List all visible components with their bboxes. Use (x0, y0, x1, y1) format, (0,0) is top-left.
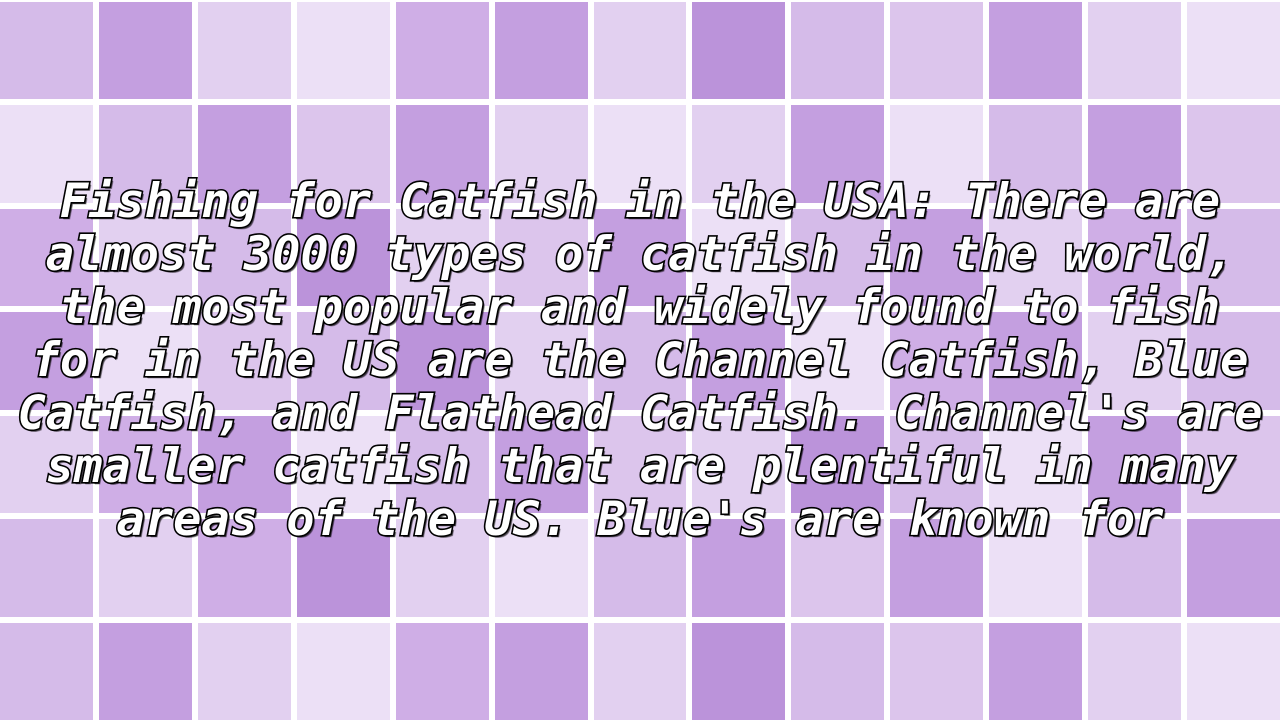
poster-canvas: Fishing for Catfish in the USA: There ar… (0, 0, 1280, 720)
tile-r5-c7 (594, 416, 687, 513)
tile-r3-c8 (692, 209, 785, 306)
tile-r5-c1 (0, 416, 93, 513)
tile-r1-c4 (297, 2, 390, 99)
tile-r1-c2 (99, 2, 192, 99)
tile-r3-c4 (297, 209, 390, 306)
tile-r3-c13 (1187, 209, 1280, 306)
tile-r5-c2 (99, 416, 192, 513)
tile-r4-c3 (198, 312, 291, 409)
tile-r1-c11 (989, 2, 1082, 99)
tile-r6-c6 (495, 519, 588, 616)
tile-r4-c6 (495, 312, 588, 409)
tile-r7-c2 (99, 623, 192, 720)
tile-r2-c12 (1088, 105, 1181, 202)
tile-r6-c5 (396, 519, 489, 616)
tile-r7-c5 (396, 623, 489, 720)
tile-r5-c10 (890, 416, 983, 513)
tile-r5-c11 (989, 416, 1082, 513)
tile-r4-c11 (989, 312, 1082, 409)
tile-r5-c9 (791, 416, 884, 513)
tile-r3-c5 (396, 209, 489, 306)
tile-r6-c3 (198, 519, 291, 616)
tile-r4-c10 (890, 312, 983, 409)
tile-r6-c11 (989, 519, 1082, 616)
tile-r6-c9 (791, 519, 884, 616)
tile-r1-c5 (396, 2, 489, 99)
tile-r2-c5 (396, 105, 489, 202)
tile-r5-c12 (1088, 416, 1181, 513)
tile-r3-c10 (890, 209, 983, 306)
tile-r7-c6 (495, 623, 588, 720)
tile-r1-c12 (1088, 2, 1181, 99)
tile-r4-c12 (1088, 312, 1181, 409)
tile-r4-c9 (791, 312, 884, 409)
tile-r3-c12 (1088, 209, 1181, 306)
tile-r6-c1 (0, 519, 93, 616)
tile-r3-c11 (989, 209, 1082, 306)
tile-r5-c8 (692, 416, 785, 513)
tile-r1-c1 (0, 2, 93, 99)
tile-r5-c13 (1187, 416, 1280, 513)
tile-r2-c2 (99, 105, 192, 202)
tile-r5-c5 (396, 416, 489, 513)
tile-r7-c4 (297, 623, 390, 720)
tile-r2-c13 (1187, 105, 1280, 202)
tile-r1-c7 (594, 2, 687, 99)
tile-r3-c1 (0, 209, 93, 306)
tile-r7-c9 (791, 623, 884, 720)
tile-r1-c13 (1187, 2, 1280, 99)
tile-r1-c3 (198, 2, 291, 99)
tile-r5-c6 (495, 416, 588, 513)
tile-r6-c12 (1088, 519, 1181, 616)
tile-r7-c3 (198, 623, 291, 720)
tile-r1-c9 (791, 2, 884, 99)
tile-r3-c7 (594, 209, 687, 306)
tile-r2-c1 (0, 105, 93, 202)
tile-r4-c7 (594, 312, 687, 409)
tile-r4-c1 (0, 312, 93, 409)
tile-background-grid (0, 0, 1280, 720)
tile-r1-c8 (692, 2, 785, 99)
tile-r1-c6 (495, 2, 588, 99)
tile-r6-c7 (594, 519, 687, 616)
tile-r7-c10 (890, 623, 983, 720)
tile-r6-c13 (1187, 519, 1280, 616)
tile-r2-c7 (594, 105, 687, 202)
tile-r4-c5 (396, 312, 489, 409)
tile-r4-c13 (1187, 312, 1280, 409)
tile-r2-c9 (791, 105, 884, 202)
tile-r2-c3 (198, 105, 291, 202)
tile-r7-c13 (1187, 623, 1280, 720)
tile-r3-c6 (495, 209, 588, 306)
tile-r7-c8 (692, 623, 785, 720)
tile-r7-c11 (989, 623, 1082, 720)
tile-r7-c7 (594, 623, 687, 720)
tile-r6-c10 (890, 519, 983, 616)
tile-r4-c8 (692, 312, 785, 409)
tile-r7-c1 (0, 623, 93, 720)
tile-r2-c10 (890, 105, 983, 202)
tile-r2-c6 (495, 105, 588, 202)
tile-r6-c2 (99, 519, 192, 616)
tile-r3-c2 (99, 209, 192, 306)
tile-r1-c10 (890, 2, 983, 99)
tile-r3-c9 (791, 209, 884, 306)
tile-r3-c3 (198, 209, 291, 306)
tile-r5-c3 (198, 416, 291, 513)
tile-r2-c4 (297, 105, 390, 202)
tile-r4-c2 (99, 312, 192, 409)
tile-r2-c11 (989, 105, 1082, 202)
tile-r7-c12 (1088, 623, 1181, 720)
tile-r5-c4 (297, 416, 390, 513)
tile-r6-c4 (297, 519, 390, 616)
tile-r4-c4 (297, 312, 390, 409)
tile-r2-c8 (692, 105, 785, 202)
tile-r6-c8 (692, 519, 785, 616)
